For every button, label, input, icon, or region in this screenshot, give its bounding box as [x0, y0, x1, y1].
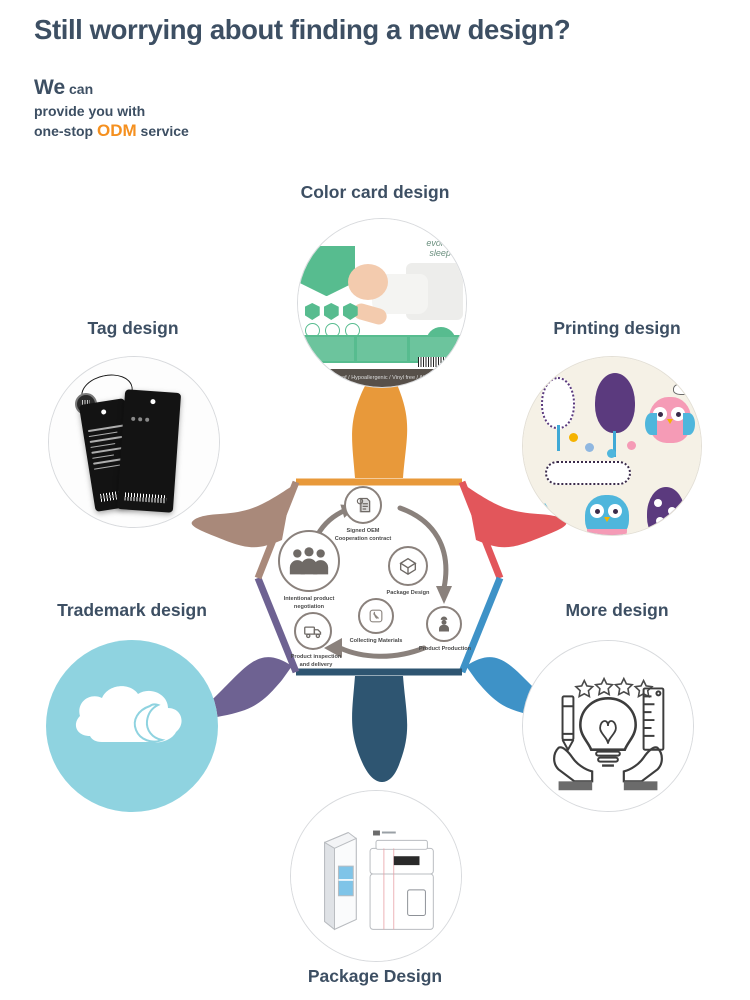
owl-fabric-print: [523, 357, 701, 535]
pink-owl-icon: [649, 397, 691, 443]
process-label-6: Intentional productnegotiation: [260, 596, 358, 611]
star-icon: [576, 679, 652, 697]
feature-badges: [305, 303, 358, 320]
card-footer-text: Waterproof / Hypoallergenic / Vinyl free…: [298, 369, 466, 387]
hands-icon: [554, 747, 662, 790]
package-design-illustration: [291, 791, 461, 961]
infographic-stage: Color card design Tag design Printing de…: [0, 0, 750, 1000]
label-trademark-design: Trademark design: [22, 600, 242, 621]
pencil-icon: [563, 696, 574, 749]
connector-bottom: [352, 676, 407, 782]
process-label-3: Product Production: [400, 646, 490, 654]
ruler-icon: [644, 688, 664, 749]
open-box-icon: [388, 546, 428, 586]
process-label-2: Package Design: [366, 590, 450, 598]
barcode-icon: [418, 357, 456, 367]
process-step-collecting-materials[interactable]: Collecting Materials: [358, 598, 394, 634]
cloud-moon-icon: [46, 640, 218, 812]
odm-process-cycle: Signed OEMCooperation contract Package D…: [258, 482, 502, 674]
document-icon: [344, 486, 382, 524]
tag-photo: [49, 357, 219, 527]
flower-icon: [569, 433, 578, 442]
process-step-product-inspection[interactable]: Product inspectionand delivery: [294, 612, 332, 650]
purple-tree-icon: [595, 373, 635, 433]
product-box-3d: [325, 833, 357, 930]
flower-icon: [627, 441, 636, 450]
more-design-illustration: [523, 641, 693, 811]
label-more-design: More design: [512, 600, 722, 621]
circle-color-card-design[interactable]: evolursleep SIZE Waterproof / Hypoallerg…: [297, 218, 467, 388]
blue-owl-icon: [585, 495, 629, 536]
brand-mark: evolursleep: [426, 239, 451, 258]
tree-icon: [541, 377, 575, 429]
circle-tag-design[interactable]: [48, 356, 220, 528]
lightbulb-icon: [580, 698, 635, 765]
label-package-design: Package Design: [0, 966, 750, 987]
truck-icon: [294, 612, 332, 650]
circle-trademark-design[interactable]: [46, 640, 218, 812]
circle-printing-design[interactable]: [522, 356, 702, 536]
color-card-photo: evolursleep SIZE Waterproof / Hypoallerg…: [298, 219, 466, 387]
circle-more-design[interactable]: [522, 640, 694, 812]
people-icon: [278, 530, 340, 592]
triangle-icon: [531, 503, 559, 525]
worker-icon: [426, 606, 462, 642]
package-dieline: [370, 831, 433, 930]
label-printing-design: Printing design: [512, 318, 722, 339]
process-label-4: Collecting Materials: [332, 638, 420, 646]
label-color-card-design: Color card design: [0, 182, 750, 203]
process-step-intentional-negotiation[interactable]: Intentional productnegotiation: [278, 530, 340, 592]
flower-icon: [607, 449, 616, 458]
label-tag-design: Tag design: [28, 318, 238, 339]
tree-trunk: [557, 425, 560, 451]
process-step-product-production[interactable]: Product Production: [426, 606, 462, 642]
circle-package-design[interactable]: [290, 790, 462, 962]
process-step-package-design[interactable]: Package Design: [388, 546, 428, 586]
flower-icon: [585, 443, 594, 452]
purple-egg-icon: [647, 487, 685, 536]
fabric-icon: [358, 598, 394, 634]
bird-icon: [673, 383, 691, 395]
tag-card-front: [117, 389, 181, 513]
process-step-signed-oem-contract[interactable]: Signed OEMCooperation contract: [344, 486, 382, 524]
cloud-pattern-icon: [545, 461, 631, 485]
process-label-5: Product inspectionand delivery: [270, 654, 362, 669]
trademark-logo: [46, 640, 218, 812]
